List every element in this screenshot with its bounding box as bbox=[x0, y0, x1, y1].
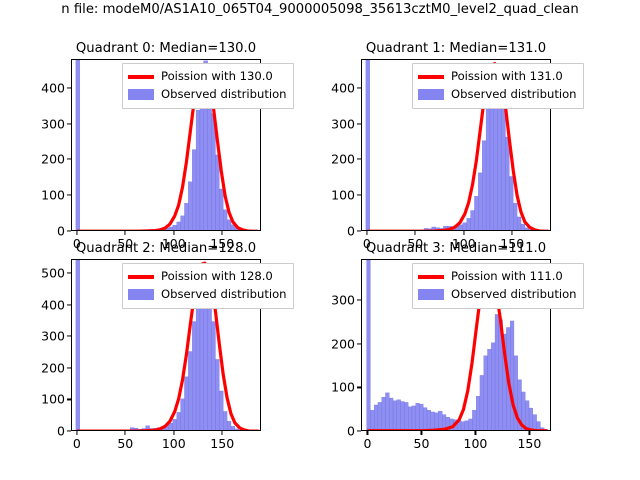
legend-label-observed: Observed distribution bbox=[161, 286, 287, 304]
legend-entry-poisson: Poission with 128.0 bbox=[128, 268, 287, 286]
subplot-quadrant-1: Quadrant 1: Median=131.0 Poission with 1… bbox=[361, 59, 551, 231]
figure-suptitle: n file: modeM0/AS1A10_065T04_9000005098_… bbox=[61, 2, 578, 17]
patch-swatch-icon bbox=[128, 89, 154, 100]
xtick-label: 0 bbox=[73, 436, 81, 451]
ytick-mark bbox=[357, 195, 361, 196]
xtick-label: 50 bbox=[414, 436, 430, 451]
legend-label-poisson: Poission with 130.0 bbox=[161, 68, 273, 86]
legend-quadrant-0: Poission with 130.0 Observed distributio… bbox=[122, 63, 294, 109]
ytick-label: 300 bbox=[41, 116, 65, 131]
ytick-label: 300 bbox=[331, 293, 355, 308]
xtick-label: 150 bbox=[517, 436, 541, 451]
ytick-mark bbox=[357, 123, 361, 124]
ytick-mark bbox=[67, 273, 71, 274]
line-swatch-icon bbox=[128, 275, 154, 278]
ytick-mark bbox=[67, 230, 71, 231]
ytick-mark bbox=[67, 123, 71, 124]
ytick-mark bbox=[67, 159, 71, 160]
xtick-label: 150 bbox=[210, 436, 234, 451]
legend-entry-observed: Observed distribution bbox=[128, 286, 287, 304]
xtick-mark bbox=[463, 231, 464, 235]
ytick-mark bbox=[67, 430, 71, 431]
xtick-label: 100 bbox=[162, 436, 186, 451]
xtick-mark bbox=[529, 431, 530, 435]
legend-entry-poisson: Poission with 131.0 bbox=[418, 68, 577, 86]
ytick-label: 200 bbox=[331, 152, 355, 167]
ytick-mark bbox=[357, 87, 361, 88]
xtick-mark bbox=[125, 431, 126, 435]
subplot-quadrant-2: Quadrant 2: Median=128.0 Poission with 1… bbox=[71, 259, 261, 431]
xtick-mark bbox=[475, 431, 476, 435]
xtick-label: 100 bbox=[463, 436, 487, 451]
xtick-mark bbox=[173, 231, 174, 235]
ytick-mark bbox=[357, 230, 361, 231]
xtick-mark bbox=[366, 231, 367, 235]
xtick-mark bbox=[367, 431, 368, 435]
legend-entry-observed: Observed distribution bbox=[418, 86, 577, 104]
ytick-label: 200 bbox=[331, 336, 355, 351]
ytick-label: 100 bbox=[331, 188, 355, 203]
xtick-mark bbox=[76, 431, 77, 435]
subplot-title-quadrant-0: Quadrant 0: Median=130.0 bbox=[76, 41, 256, 56]
ytick-mark bbox=[67, 304, 71, 305]
ytick-label: 0 bbox=[57, 424, 65, 439]
legend-label-observed: Observed distribution bbox=[161, 86, 287, 104]
ytick-label: 200 bbox=[41, 360, 65, 375]
ytick-label: 100 bbox=[41, 188, 65, 203]
ytick-label: 0 bbox=[347, 224, 355, 239]
patch-swatch-icon bbox=[418, 89, 444, 100]
legend-entry-poisson: Poission with 111.0 bbox=[418, 268, 577, 286]
subplot-title-quadrant-3: Quadrant 3: Median=111.0 bbox=[366, 241, 546, 256]
ytick-label: 400 bbox=[41, 80, 65, 95]
ytick-mark bbox=[67, 336, 71, 337]
xtick-mark bbox=[173, 431, 174, 435]
subplot-quadrant-0: Quadrant 0: Median=130.0 Poission with 1… bbox=[71, 59, 261, 231]
line-swatch-icon bbox=[128, 75, 154, 78]
ytick-label: 200 bbox=[41, 152, 65, 167]
xtick-mark bbox=[421, 431, 422, 435]
xtick-label: 0 bbox=[363, 436, 371, 451]
ytick-label: 400 bbox=[41, 297, 65, 312]
xtick-label: 50 bbox=[117, 436, 133, 451]
legend-entry-observed: Observed distribution bbox=[418, 286, 577, 304]
ytick-label: 300 bbox=[331, 116, 355, 131]
ytick-label: 400 bbox=[331, 80, 355, 95]
ytick-mark bbox=[67, 399, 71, 400]
legend-label-poisson: Poission with 111.0 bbox=[451, 268, 563, 286]
legend-label-poisson: Poission with 128.0 bbox=[161, 268, 273, 286]
ytick-mark bbox=[67, 195, 71, 196]
matplotlib-figure: n file: modeM0/AS1A10_065T04_9000005098_… bbox=[0, 0, 640, 480]
legend-quadrant-3: Poission with 111.0 Observed distributio… bbox=[412, 263, 584, 309]
xtick-mark bbox=[222, 431, 223, 435]
ytick-label: 100 bbox=[41, 392, 65, 407]
xtick-mark bbox=[415, 231, 416, 235]
line-swatch-icon bbox=[418, 275, 444, 278]
legend-entry-observed: Observed distribution bbox=[128, 86, 287, 104]
xtick-mark bbox=[125, 231, 126, 235]
ytick-mark bbox=[357, 387, 361, 388]
ytick-mark bbox=[67, 87, 71, 88]
legend-label-observed: Observed distribution bbox=[451, 286, 577, 304]
ytick-label: 0 bbox=[347, 424, 355, 439]
line-swatch-icon bbox=[418, 75, 444, 78]
legend-quadrant-1: Poission with 131.0 Observed distributio… bbox=[412, 63, 584, 109]
subplot-title-quadrant-1: Quadrant 1: Median=131.0 bbox=[366, 41, 546, 56]
ytick-mark bbox=[357, 159, 361, 160]
xtick-mark bbox=[222, 231, 223, 235]
ytick-label: 100 bbox=[331, 380, 355, 395]
ytick-mark bbox=[357, 300, 361, 301]
legend-entry-poisson: Poission with 130.0 bbox=[128, 68, 287, 86]
subplot-title-quadrant-2: Quadrant 2: Median=128.0 bbox=[76, 241, 256, 256]
legend-label-observed: Observed distribution bbox=[451, 86, 577, 104]
ytick-mark bbox=[67, 367, 71, 368]
legend-quadrant-2: Poission with 128.0 Observed distributio… bbox=[122, 263, 294, 309]
legend-label-poisson: Poission with 131.0 bbox=[451, 68, 563, 86]
ytick-mark bbox=[357, 430, 361, 431]
ytick-label: 300 bbox=[41, 329, 65, 344]
ytick-label: 500 bbox=[41, 266, 65, 281]
ytick-label: 0 bbox=[57, 224, 65, 239]
patch-swatch-icon bbox=[128, 289, 154, 300]
xtick-mark bbox=[76, 231, 77, 235]
subplot-quadrant-3: Quadrant 3: Median=111.0 Poission with 1… bbox=[361, 259, 551, 431]
ytick-mark bbox=[357, 343, 361, 344]
patch-swatch-icon bbox=[418, 289, 444, 300]
xtick-mark bbox=[512, 231, 513, 235]
